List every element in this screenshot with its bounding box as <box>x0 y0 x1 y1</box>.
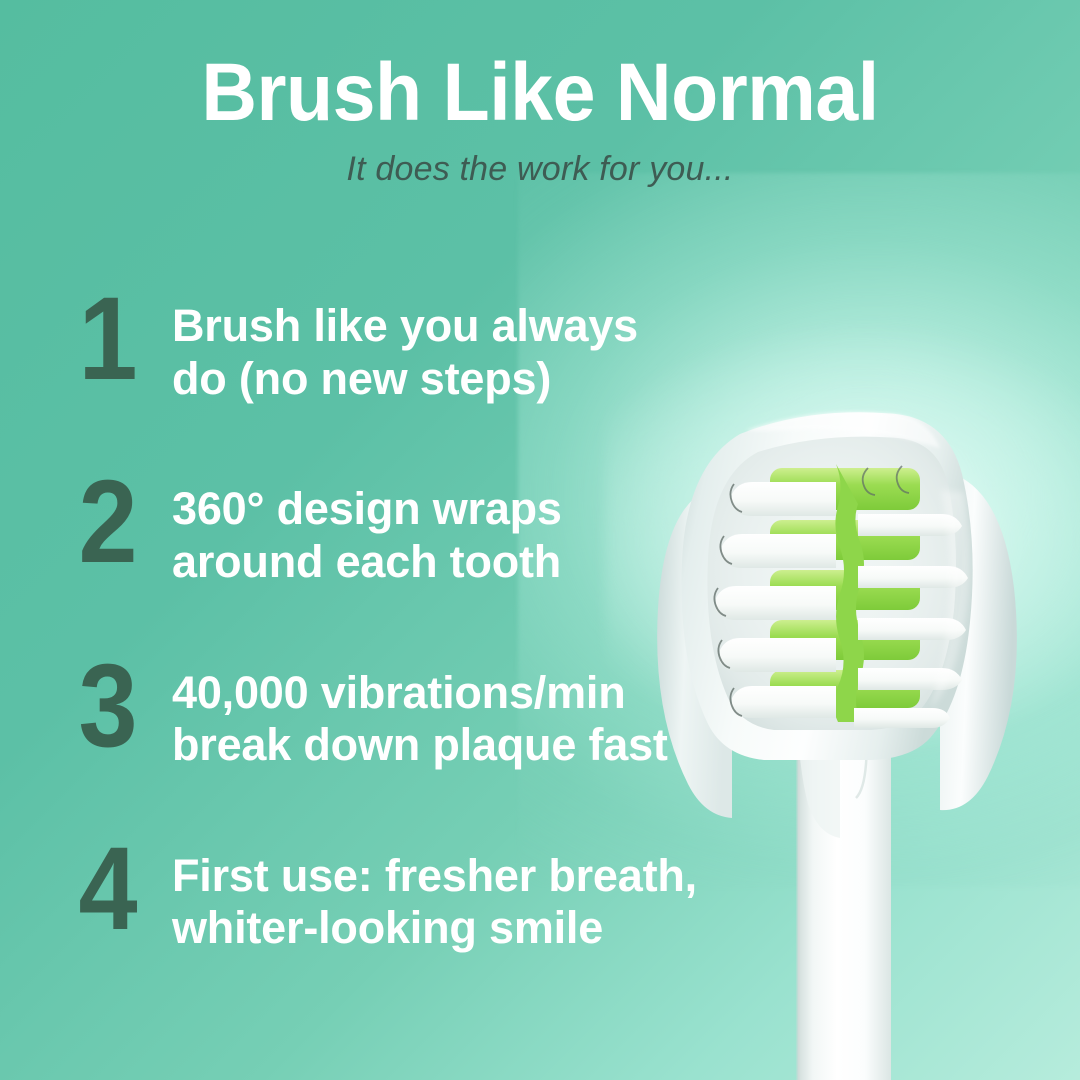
step-text-4: First use: fresher breath, whiter-lookin… <box>172 838 768 955</box>
step-number-2: 2 <box>54 471 162 575</box>
step-number-4: 4 <box>54 838 162 942</box>
steps-list: 1 Brush like you always do (no new steps… <box>48 288 768 955</box>
step-line-3b: break down plaque fast <box>172 719 768 772</box>
list-item: 1 Brush like you always do (no new steps… <box>48 288 768 405</box>
step-text-1: Brush like you always do (no new steps) <box>172 288 768 405</box>
step-text-2: 360° design wraps around each tooth <box>172 471 768 588</box>
step-number-3: 3 <box>54 655 162 759</box>
header-block: Brush Like Normal It does the work for y… <box>0 52 1080 189</box>
step-line-1a: Brush like you always <box>172 300 638 351</box>
step-line-2b: around each tooth <box>172 536 768 589</box>
list-item: 4 First use: fresher breath, whiter-look… <box>48 838 768 955</box>
list-item: 3 40,000 vibrations/min break down plaqu… <box>48 655 768 772</box>
step-line-4a: First use: fresher breath, <box>172 850 697 901</box>
page-title: Brush Like Normal <box>32 52 1047 134</box>
step-line-2a: 360° design wraps <box>172 483 562 534</box>
poster-canvas: Brush Like Normal It does the work for y… <box>0 0 1080 1080</box>
step-line-1b: do (no new steps) <box>172 353 768 406</box>
step-line-3a: 40,000 vibrations/min <box>172 667 626 718</box>
step-text-3: 40,000 vibrations/min break down plaque … <box>172 655 768 772</box>
step-number-1: 1 <box>54 288 162 392</box>
step-line-4b: whiter-looking smile <box>172 902 768 955</box>
page-subtitle: It does the work for you... <box>0 150 1080 189</box>
list-item: 2 360° design wraps around each tooth <box>48 471 768 588</box>
